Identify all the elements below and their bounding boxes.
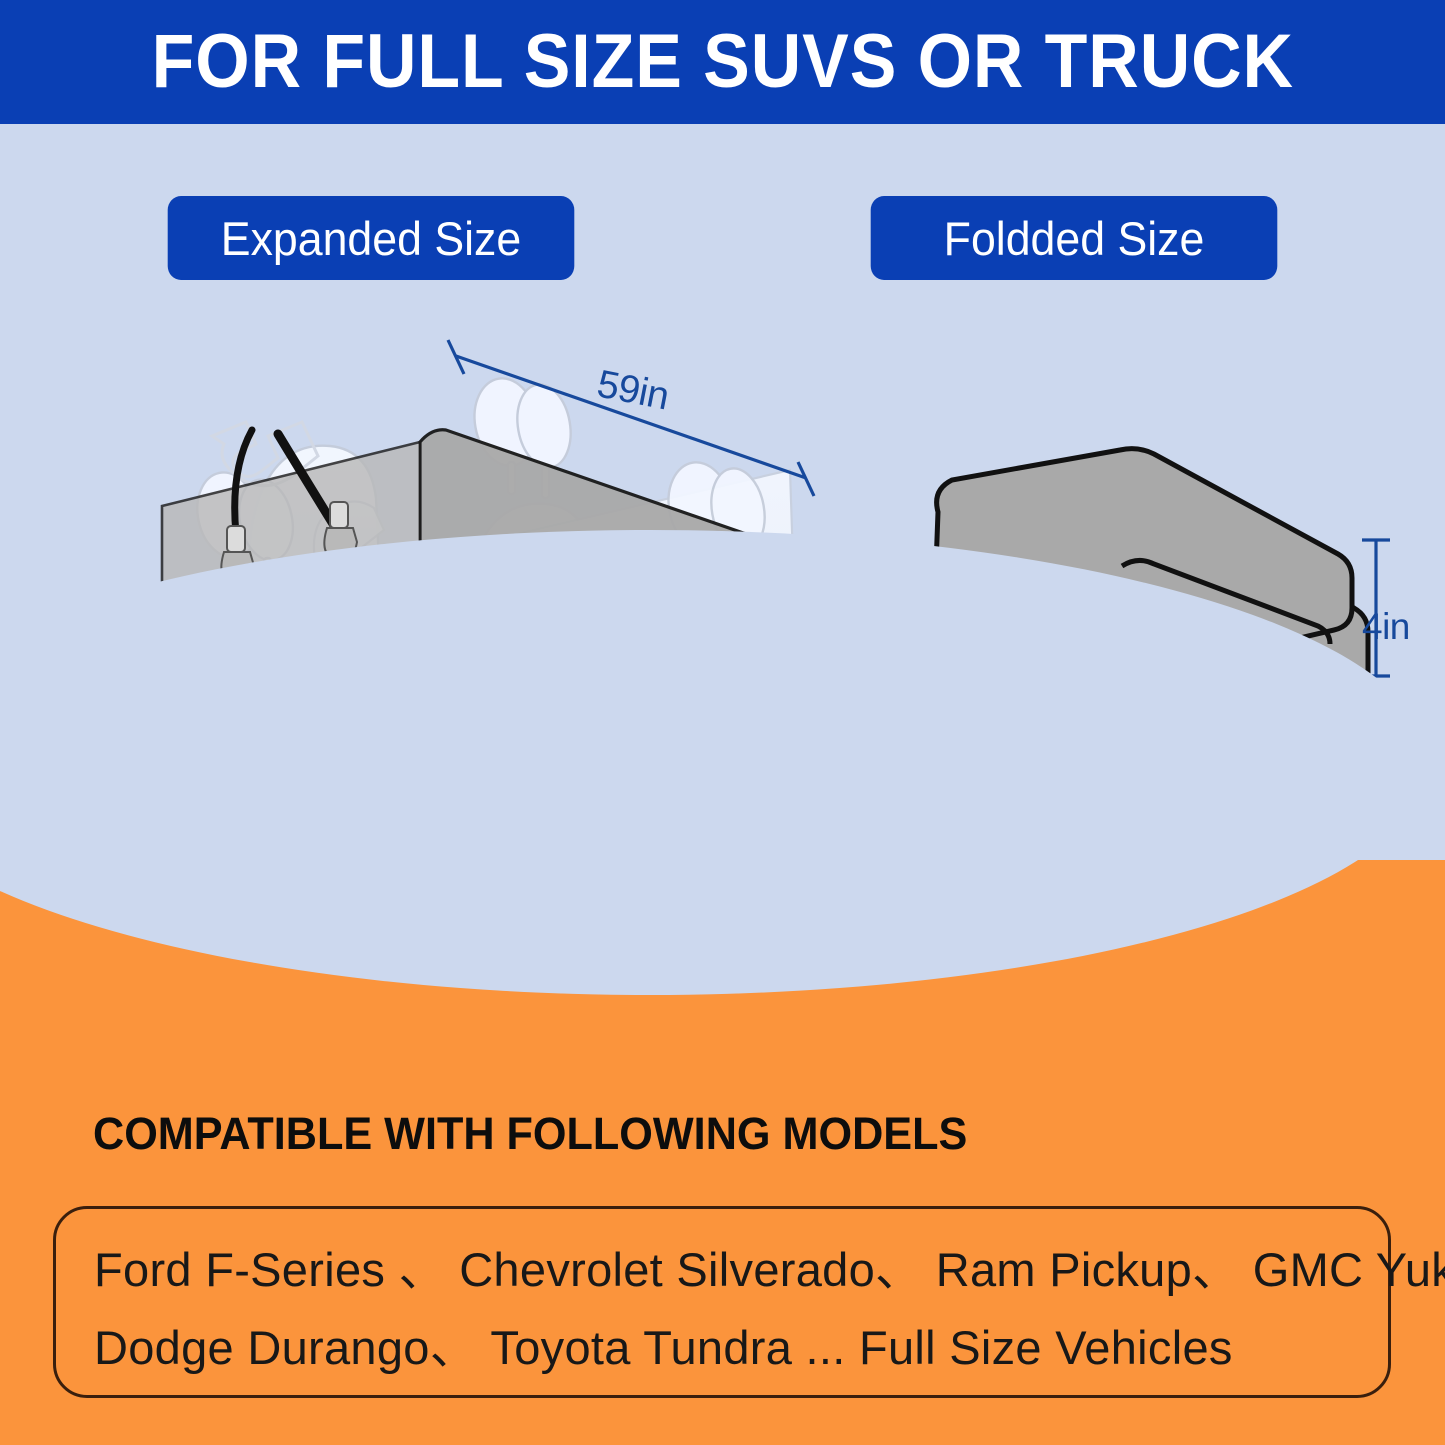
- badge-expanded-label: Expanded Size: [221, 211, 521, 266]
- compatibility-heading: COMPATIBLE WITH FOLLOWING MODELS: [93, 1108, 967, 1160]
- page-title: FOR FULL SIZE SUVS OR TRUCK: [151, 24, 1293, 100]
- product-infographic: FOR FULL SIZE SUVS OR TRUCK: [0, 0, 1445, 1445]
- model-list-line-2: Dodge Durango、 Toyota Tundra ... Full Si…: [94, 1309, 1360, 1387]
- model-list-line-1: Ford F-Series 、 Chevrolet Silverado、 Ram…: [94, 1231, 1360, 1309]
- dimension-label-folded-height: 4in: [1362, 606, 1410, 648]
- badge-folded-label: Foldded Size: [944, 211, 1205, 266]
- compatible-models-box: Ford F-Series 、 Chevrolet Silverado、 Ram…: [53, 1206, 1391, 1398]
- badge-expanded-size[interactable]: Expanded Size: [168, 196, 575, 280]
- badge-folded-size[interactable]: Foldded Size: [871, 196, 1278, 280]
- header-banner: FOR FULL SIZE SUVS OR TRUCK: [0, 0, 1445, 124]
